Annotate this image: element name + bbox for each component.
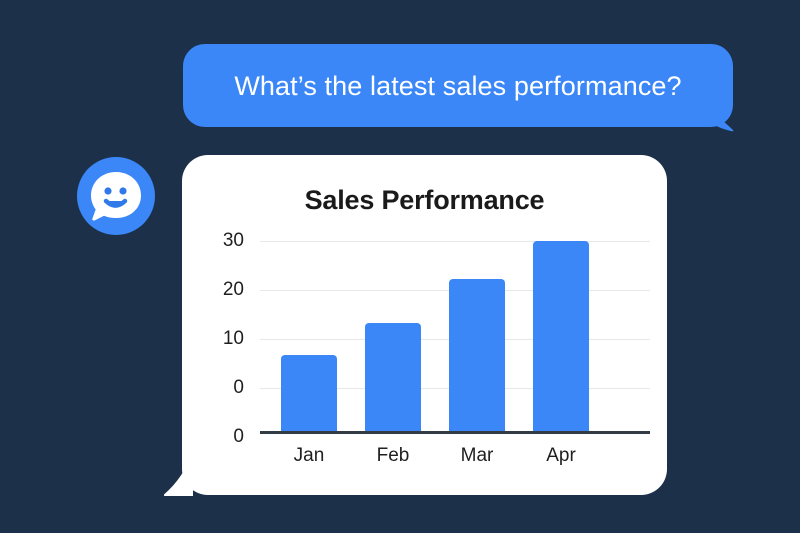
user-bubble-tail-icon	[707, 106, 735, 132]
chat-smiley-icon	[77, 157, 155, 235]
y-axis-tick-label: 0	[182, 426, 244, 448]
chart-bar[interactable]	[533, 241, 589, 431]
chart-gridline	[260, 241, 650, 242]
x-axis-tick-label: Apr	[546, 445, 576, 467]
y-axis-tick-label: 10	[182, 328, 244, 350]
x-axis-tick-label: Mar	[461, 445, 494, 467]
y-axis-tick-label: 30	[182, 230, 244, 252]
chart-bar[interactable]	[281, 355, 337, 431]
sales-performance-chart: Sales Performance 30201000JanFebMarApr	[182, 155, 667, 495]
x-axis-tick-label: Feb	[377, 445, 410, 467]
user-message-text: What’s the latest sales performance?	[234, 70, 681, 102]
chart-bar[interactable]	[365, 323, 421, 431]
y-axis-tick-label: 0	[182, 377, 244, 399]
x-axis-tick-label: Jan	[294, 445, 325, 467]
x-axis-line	[260, 431, 650, 434]
chart-bar[interactable]	[449, 279, 505, 431]
chart-plot-area: 30201000JanFebMarApr	[182, 155, 667, 495]
assistant-avatar	[77, 157, 155, 235]
chat-scene: What’s the latest sales performance? Sal…	[0, 0, 800, 533]
y-axis-tick-label: 20	[182, 279, 244, 301]
user-message-bubble[interactable]: What’s the latest sales performance?	[183, 44, 733, 127]
